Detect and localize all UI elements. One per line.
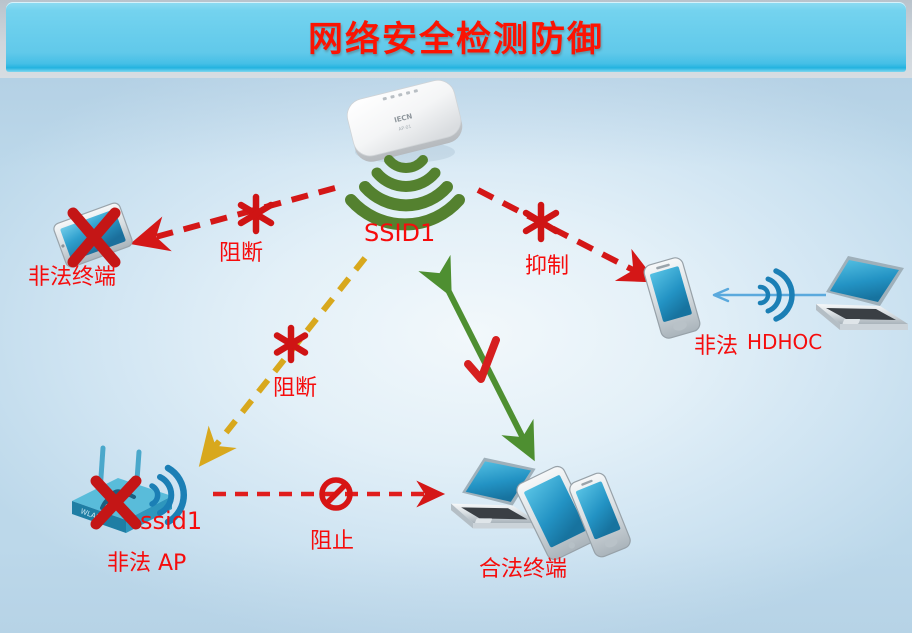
illegal-adhoc-label-suffix: HDHOC — [747, 330, 822, 354]
wireless-access-point-icon: IECN AP-01 — [344, 77, 466, 166]
legal-terminals-label: 合法终端 — [479, 551, 567, 583]
illegal-ap-ssid-label: ssid1 — [140, 507, 202, 535]
link-label-block-illegal-ap: 阻断 — [273, 370, 317, 402]
link-block-illegal-ap — [213, 258, 365, 449]
diagram-canvas: 网络安全检测防御 — [0, 0, 912, 633]
red-asterisk-icon — [526, 205, 556, 239]
ap-ssid-label: SSID1 — [364, 219, 435, 247]
link-allow-legal-terminals — [442, 278, 525, 442]
smartphone-icon — [642, 256, 701, 340]
link-label-suppress-illegal-adhoc: 抑制 — [525, 248, 569, 280]
laptop-icon — [816, 256, 908, 330]
link-label-block-illegal-terminal: 阻断 — [219, 235, 263, 267]
diagram-vector-layer: IECN AP-01 — [0, 0, 912, 633]
wifi-waves-green-icon — [351, 160, 459, 224]
illegal-ap-label: 非法 AP — [107, 545, 186, 577]
illegal-terminal-label: 非法终端 — [28, 259, 116, 291]
link-block-illegal-terminal — [152, 188, 335, 238]
link-label-prevent-illegal-ap-to-legal: 阻止 — [310, 523, 354, 555]
link-prevent-illegal-ap-to-legal — [213, 480, 428, 508]
red-asterisk-icon — [277, 328, 305, 360]
illegal-adhoc-label-prefix: 非法 — [694, 328, 738, 360]
